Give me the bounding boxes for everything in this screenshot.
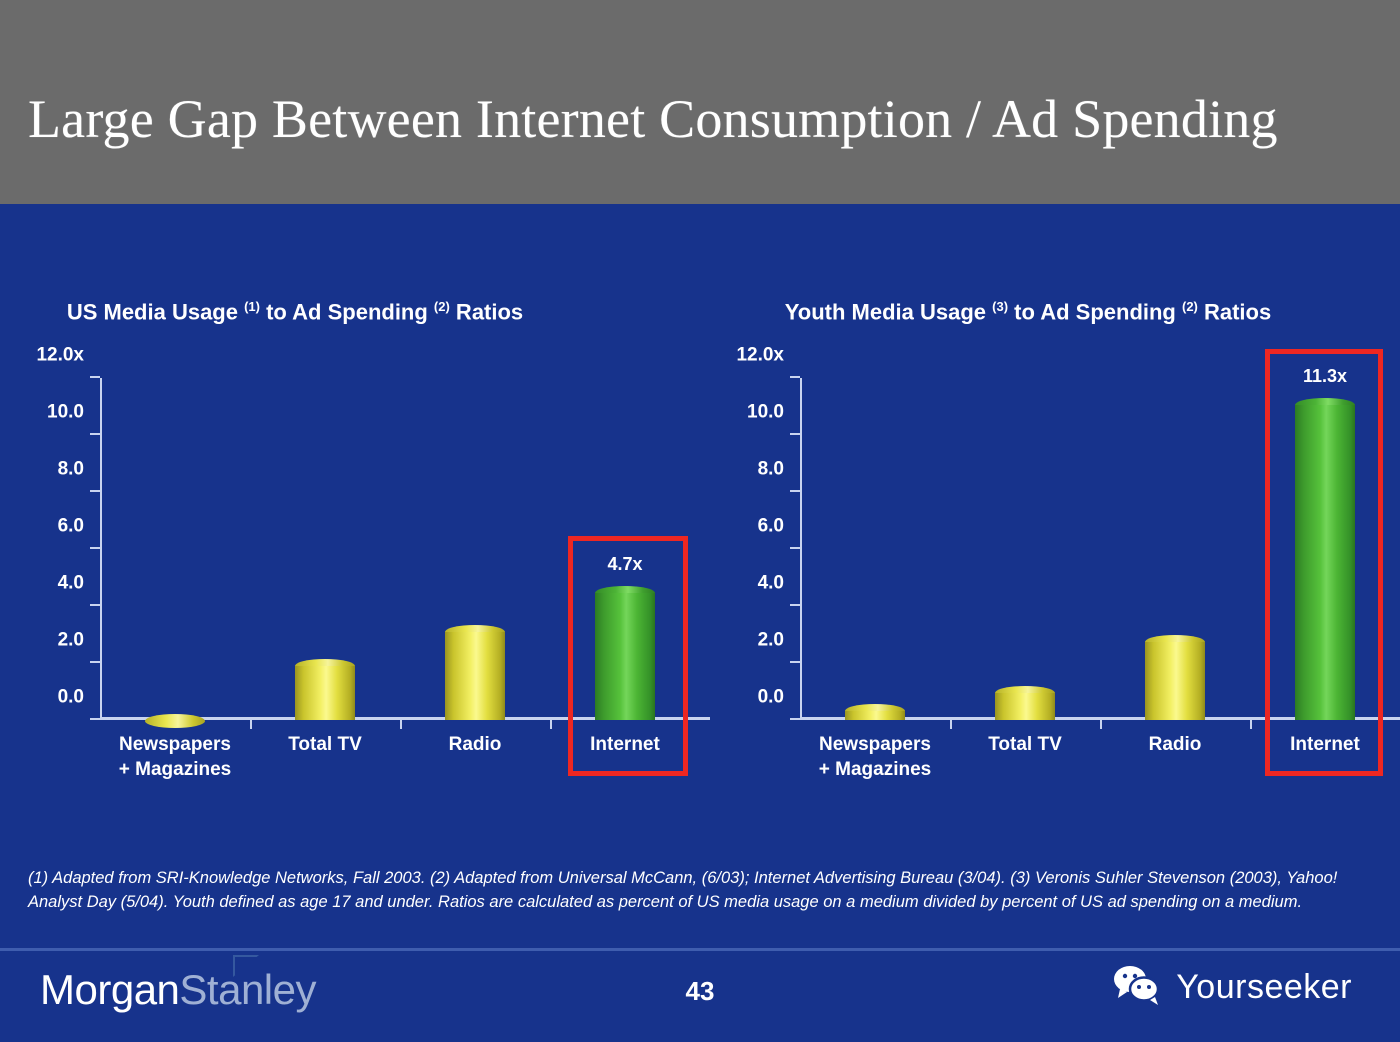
bar-newspapers-magazines [145,714,205,720]
bar-cap [145,714,205,728]
x-label-total-tv: Total TV [288,732,362,757]
y-tick-6 [90,547,100,549]
bar-total-tv [295,659,355,720]
chart-title-text-pre: Youth Media Usage [785,299,992,324]
chart-title-text-mid: to Ad Spending [260,299,434,324]
x-label-newspapers-magazines: Newspapers + Magazines [119,732,231,782]
y-tick-label-6: 6.0 [58,516,84,538]
y-tick-label-8: 8.0 [758,459,784,481]
wechat-icon [1112,964,1164,1011]
footnote-text: (1) Adapted from SRI-Knowledge Networks,… [28,866,1368,914]
bar-value-internet: 11.3x [1303,366,1347,387]
y-tick-4 [790,604,800,606]
x-label-total-tv: Total TV [988,732,1062,757]
y-tick-label-10: 10.0 [747,402,784,424]
x-label-internet: Internet [590,732,660,757]
x-tick-3 [550,720,552,729]
chart-title-text-post: Ratios [450,299,523,324]
y-tick-label-2: 2.0 [758,630,784,652]
bar-body [995,693,1055,720]
page-title: Large Gap Between Internet Consumption /… [28,88,1278,150]
bar-total-tv [995,686,1055,720]
x-tick-2 [400,720,402,729]
y-axis-line [100,378,102,720]
plot-area-youth-media: 0.0 2.0 4.0 6.0 8.0 10.0 12.0x [800,378,1400,720]
y-tick-label-8: 8.0 [58,459,84,481]
x-label-internet: Internet [1290,732,1360,757]
y-tick-8 [790,490,800,492]
y-axis-line [800,378,802,720]
slide-footer: MorganStanley 43 Yourseeker [0,948,1400,1042]
footnote-ref-2: (2) [434,299,450,314]
y-tick-0 [90,718,100,720]
chart-title-text-pre: US Media Usage [67,299,244,324]
chart-title-text-mid: to Ad Spending [1008,299,1182,324]
y-tick-8 [90,490,100,492]
footnote-ref-3: (3) [992,299,1008,314]
chart-title-us-media: US Media Usage (1) to Ad Spending (2) Ra… [0,290,650,328]
x-tick-3 [1250,720,1252,729]
y-tick-label-0: 0.0 [58,687,84,709]
x-label-newspapers-magazines: Newspapers + Magazines [819,732,931,782]
bar-internet [1295,398,1355,720]
bar-radio [1145,635,1205,721]
y-tick-12 [90,376,100,378]
bar-body [595,593,655,720]
bar-body [445,632,505,720]
footnote-ref-2b: (2) [1182,299,1198,314]
y-tick-2 [90,661,100,663]
bar-body [1145,642,1205,721]
y-tick-label-10: 10.0 [47,402,84,424]
y-tick-label-2: 2.0 [58,630,84,652]
y-tick-10 [790,433,800,435]
y-tick-4 [90,604,100,606]
bar-radio [445,625,505,720]
y-tick-2 [790,661,800,663]
bar-body [295,666,355,720]
bar-body [1295,405,1355,720]
slide-body: US Media Usage (1) to Ad Spending (2) Ra… [0,204,1400,1042]
x-axis-labels-youth-media: Newspapers + Magazines Total TV Radio In… [700,732,1400,802]
chart-title-text-post: Ratios [1198,299,1271,324]
bar-value-internet: 4.7x [607,554,642,575]
y-tick-label-0: 0.0 [758,687,784,709]
y-tick-6 [790,547,800,549]
y-tick-label-6: 6.0 [758,516,784,538]
footnote-ref-1: (1) [244,299,260,314]
chart-title-youth-media: Youth Media Usage (3) to Ad Spending (2)… [718,290,1338,328]
y-tick-12 [790,376,800,378]
y-tick-0 [790,718,800,720]
y-tick-label-12: 12.0x [736,345,784,367]
slide-header-bar: Large Gap Between Internet Consumption /… [0,0,1400,204]
x-tick-2 [1100,720,1102,729]
y-tick-label-4: 4.0 [758,573,784,595]
x-label-radio: Radio [449,732,502,757]
yourseeker-watermark: Yourseeker [1112,964,1352,1011]
yourseeker-label: Yourseeker [1176,968,1352,1007]
bar-internet [595,586,655,720]
y-tick-label-4: 4.0 [58,573,84,595]
y-tick-label-12: 12.0x [36,345,84,367]
x-tick-1 [250,720,252,729]
bar-body [845,711,905,720]
plot-area-us-media: 0.0 2.0 4.0 6.0 8.0 10.0 12.0x [100,378,700,720]
x-label-radio: Radio [1149,732,1202,757]
bar-newspapers-magazines [845,704,905,720]
x-tick-1 [950,720,952,729]
x-axis-labels-us-media: Newspapers + Magazines Total TV Radio In… [0,732,710,802]
y-tick-10 [90,433,100,435]
